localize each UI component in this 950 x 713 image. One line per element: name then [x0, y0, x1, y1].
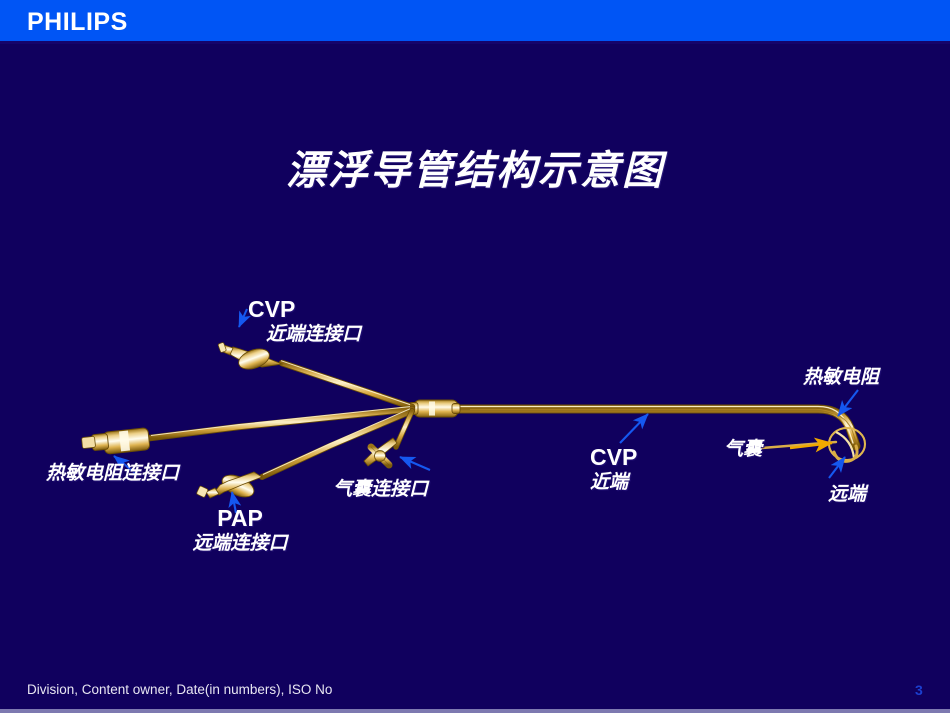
arrow-cvp-lumen: [620, 414, 648, 443]
label-pap-distal-port-cjk: 远端连接口: [180, 532, 300, 554]
label-distal-tip-cjk: 远端: [828, 483, 866, 505]
label-balloon-connector-cjk: 气囊连接口: [333, 478, 428, 500]
connector-balloon-port: [364, 438, 397, 466]
arrow-balloon-port: [400, 457, 430, 470]
label-thermistor-connector: 热敏电阻连接口: [46, 462, 179, 484]
label-balloon-cjk: 气囊: [724, 438, 762, 460]
arrow-distal-tip: [829, 457, 845, 478]
connector-pap-distal: [196, 471, 262, 502]
label-cvp-proximal-lumen-cjk: 近端: [590, 471, 637, 493]
label-cvp-proximal-lumen: CVP 近端: [590, 444, 637, 494]
label-cvp-proximal-port-cjk: 近端连接口: [266, 323, 361, 345]
connector-cvp-proximal: [218, 342, 282, 373]
catheter-central-hub: [409, 400, 460, 417]
label-thermistor-cjk: 热敏电阻: [803, 366, 879, 388]
label-pap-distal-port-latin: PAP: [180, 505, 300, 532]
connector-thermistor: [82, 428, 151, 455]
branch-thermistor: [150, 407, 412, 438]
catheter-diagram: [0, 0, 950, 713]
label-pap-distal-port: PAP 远端连接口: [180, 505, 300, 555]
page-number: 3: [915, 682, 923, 698]
footer-text: Division, Content owner, Date(in numbers…: [27, 682, 332, 697]
slide-canvas: PHILIPS 漂浮导管结构示意图: [0, 0, 950, 713]
arrow-thermistor: [838, 390, 858, 416]
label-cvp-proximal-port-latin: CVP: [248, 296, 361, 323]
arrow-cvp-proximal: [239, 309, 247, 327]
label-thermistor-connector-cjk: 热敏电阻连接口: [46, 462, 179, 484]
label-balloon-connector: 气囊连接口: [333, 478, 428, 500]
footer-rule: [0, 709, 950, 713]
label-distal-tip: 远端: [828, 483, 866, 505]
branch-cvp-proximal: [281, 361, 412, 407]
label-balloon: 气囊: [724, 438, 762, 460]
label-thermistor: 热敏电阻: [803, 366, 879, 388]
catheter-main-shaft: [452, 407, 858, 449]
label-cvp-proximal-lumen-latin: CVP: [590, 444, 637, 471]
label-cvp-proximal-port: CVP 近端连接口: [248, 296, 361, 346]
